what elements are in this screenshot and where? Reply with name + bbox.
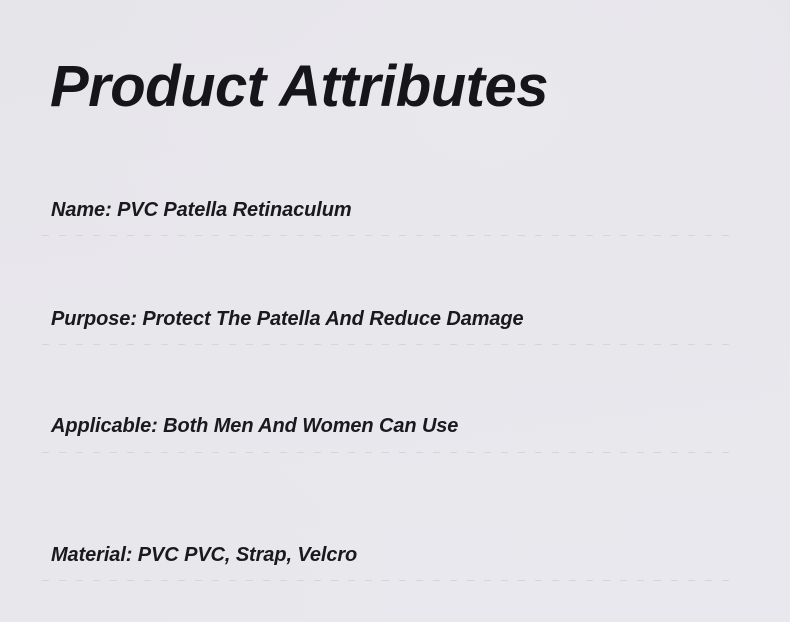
attribute-divider: [42, 580, 736, 581]
product-attributes-panel: Product Attributes Name: PVC Patella Ret…: [0, 0, 790, 622]
attribute-text: Name: PVC Patella Retinaculum: [51, 199, 352, 222]
attribute-text: Applicable: Both Men And Women Can Use: [51, 415, 458, 438]
page-title: Product Attributes: [50, 57, 548, 118]
attribute-text: Purpose: Protect The Patella And Reduce …: [51, 308, 524, 331]
attribute-divider: [42, 235, 736, 236]
attribute-divider: [42, 452, 736, 453]
attribute-text: Material: PVC PVC, Strap, Velcro: [51, 544, 357, 567]
attribute-divider: [42, 344, 736, 345]
